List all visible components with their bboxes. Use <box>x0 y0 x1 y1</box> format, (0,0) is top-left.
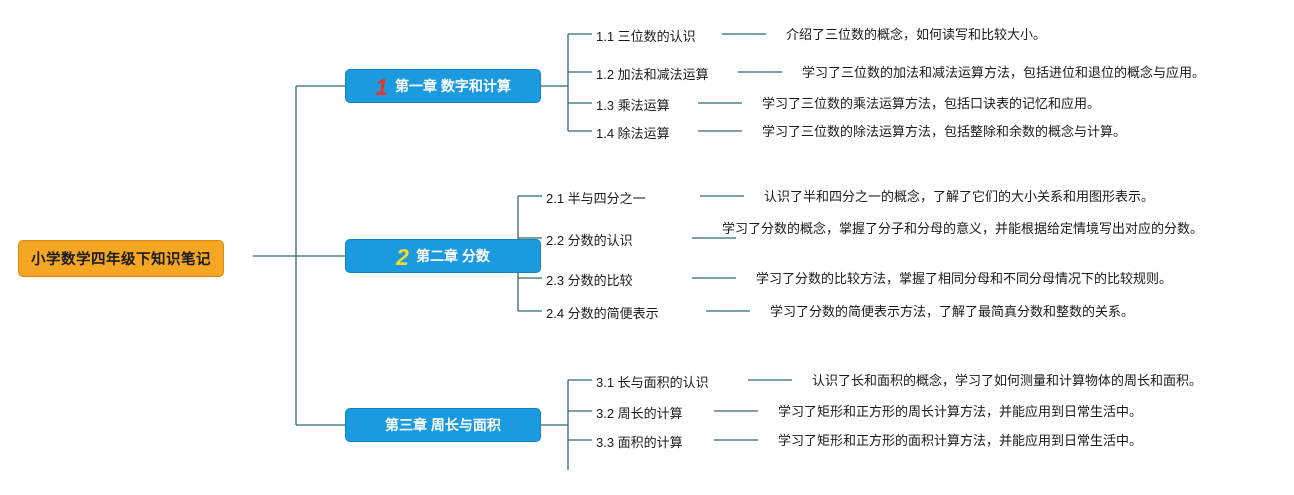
topic-3-3-label: 3.3 面积的计算 <box>596 435 683 450</box>
chapter-number-2: 2 <box>396 246 409 269</box>
desc-1-2: 学习了三位数的加法和减法运算方法，包括进位和退位的概念与应用。 <box>802 64 1205 83</box>
chapter-title-1: 第一章 数字和计算 <box>395 76 511 96</box>
desc-3-2-text: 学习了矩形和正方形的周长计算方法，并能应用到日常生活中。 <box>778 404 1142 419</box>
desc-2-4-text: 学习了分数的简便表示方法，了解了最简真分数和整数的关系。 <box>770 304 1134 319</box>
desc-3-2: 学习了矩形和正方形的周长计算方法，并能应用到日常生活中。 <box>778 403 1142 422</box>
topic-2-3-label: 2.3 分数的比较 <box>546 273 633 288</box>
desc-3-3: 学习了矩形和正方形的面积计算方法，并能应用到日常生活中。 <box>778 432 1142 451</box>
topic-3-2[interactable]: 3.2 周长的计算 <box>596 403 683 422</box>
topic-1-1[interactable]: 1.1 三位数的认识 <box>596 26 696 45</box>
desc-1-1: 介绍了三位数的概念，如何读写和比较大小。 <box>786 26 1046 45</box>
desc-1-4: 学习了三位数的除法运算方法，包括整除和余数的概念与计算。 <box>762 123 1126 142</box>
root-node-label: 小学数学四年级下知识笔记 <box>31 252 211 268</box>
topic-3-3[interactable]: 3.3 面积的计算 <box>596 432 683 451</box>
topic-3-1[interactable]: 3.1 长与面积的认识 <box>596 372 709 391</box>
chapter-title-2: 第二章 分数 <box>416 246 490 266</box>
desc-3-1-text: 认识了长和面积的概念，学习了如何测量和计算物体的周长和面积。 <box>812 373 1202 388</box>
desc-2-1-text: 认识了半和四分之一的概念，了解了它们的大小关系和用图形表示。 <box>764 189 1154 204</box>
chapter-title-3: 第三章 周长与面积 <box>385 415 501 435</box>
topic-2-1[interactable]: 2.1 半与四分之一 <box>546 188 646 207</box>
chapter-node-1[interactable]: 1 第一章 数字和计算 <box>345 69 541 103</box>
topic-2-3[interactable]: 2.3 分数的比较 <box>546 270 633 289</box>
chapter-node-2[interactable]: 2 第二章 分数 <box>345 239 541 273</box>
topic-1-3-label: 1.3 乘法运算 <box>596 98 670 113</box>
topic-1-4[interactable]: 1.4 除法运算 <box>596 123 670 142</box>
desc-2-2-text: 学习了分数的概念，掌握了分子和分母的意义，并能根据给定情境写出对应的分数。 <box>722 221 1203 236</box>
desc-1-1-text: 介绍了三位数的概念，如何读写和比较大小。 <box>786 27 1046 42</box>
desc-1-4-text: 学习了三位数的除法运算方法，包括整除和余数的概念与计算。 <box>762 124 1126 139</box>
desc-3-1: 认识了长和面积的概念，学习了如何测量和计算物体的周长和面积。 <box>812 372 1202 391</box>
root-node[interactable]: 小学数学四年级下知识笔记 <box>18 240 224 277</box>
topic-2-1-label: 2.1 半与四分之一 <box>546 191 646 206</box>
chapter-number-1: 1 <box>375 76 388 99</box>
topic-2-2[interactable]: 2.2 分数的认识 <box>546 230 633 249</box>
desc-1-3-text: 学习了三位数的乘法运算方法，包括口诀表的记忆和应用。 <box>762 96 1100 111</box>
desc-2-4: 学习了分数的简便表示方法，了解了最简真分数和整数的关系。 <box>770 303 1134 322</box>
desc-2-3-text: 学习了分数的比较方法，掌握了相同分母和不同分母情况下的比较规则。 <box>756 271 1172 286</box>
topic-1-4-label: 1.4 除法运算 <box>596 126 670 141</box>
topic-2-4-label: 2.4 分数的简便表示 <box>546 306 659 321</box>
desc-2-1: 认识了半和四分之一的概念，了解了它们的大小关系和用图形表示。 <box>764 188 1154 207</box>
topic-3-2-label: 3.2 周长的计算 <box>596 406 683 421</box>
topic-2-4[interactable]: 2.4 分数的简便表示 <box>546 303 659 322</box>
mindmap-canvas: 小学数学四年级下知识笔记 1 第一章 数字和计算 1.1 三位数的认识 介绍了三… <box>0 0 1294 495</box>
desc-2-3: 学习了分数的比较方法，掌握了相同分母和不同分母情况下的比较规则。 <box>756 270 1172 289</box>
desc-1-2-text: 学习了三位数的加法和减法运算方法，包括进位和退位的概念与应用。 <box>802 65 1205 80</box>
topic-1-2-label: 1.2 加法和减法运算 <box>596 67 709 82</box>
topic-3-1-label: 3.1 长与面积的认识 <box>596 375 709 390</box>
desc-2-2: 学习了分数的概念，掌握了分子和分母的意义，并能根据给定情境写出对应的分数。 <box>722 220 1227 239</box>
topic-1-3[interactable]: 1.3 乘法运算 <box>596 95 670 114</box>
desc-3-3-text: 学习了矩形和正方形的面积计算方法，并能应用到日常生活中。 <box>778 433 1142 448</box>
topic-2-2-label: 2.2 分数的认识 <box>546 233 633 248</box>
chapter-node-3[interactable]: 第三章 周长与面积 <box>345 408 541 442</box>
desc-1-3: 学习了三位数的乘法运算方法，包括口诀表的记忆和应用。 <box>762 95 1100 114</box>
topic-1-2[interactable]: 1.2 加法和减法运算 <box>596 64 709 83</box>
topic-1-1-label: 1.1 三位数的认识 <box>596 29 696 44</box>
